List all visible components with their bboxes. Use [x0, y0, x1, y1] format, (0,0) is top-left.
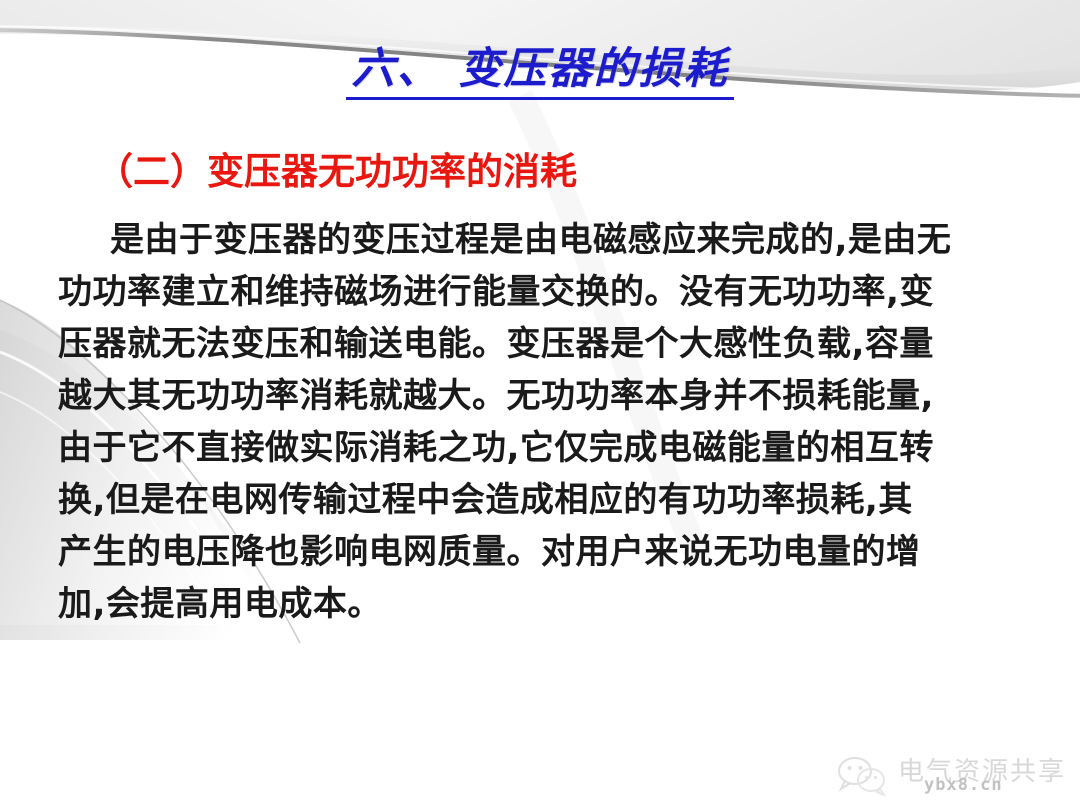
- section-subtitle-container: （二）变压器无功功率的消耗: [96, 152, 577, 193]
- page-title: 六、 变压器的损耗: [346, 46, 735, 100]
- body-line: 是由于变压器的变压过程是由电磁感应来完成的,是由无: [58, 214, 1010, 266]
- page-title-container: 六、 变压器的损耗: [0, 46, 1080, 100]
- body-line: 由于它不直接做实际消耗之功,它仅完成电磁能量的相互转: [58, 422, 1010, 474]
- body-line: 越大其无功功率消耗就越大。无功功率本身并不损耗能量,: [58, 370, 1010, 422]
- watermark: 电气资源共享 ybx8.cn: [836, 756, 1066, 796]
- watermark-site: ybx8.cn: [924, 777, 1003, 794]
- body-line: 换,但是在电网传输过程中会造成相应的有功功率损耗,其: [58, 474, 1010, 526]
- slide-canvas: 六、 变压器的损耗 （二）变压器无功功率的消耗 是由于变压器的变压过程是由电磁感…: [0, 0, 1080, 810]
- section-subtitle: （二）变压器无功功率的消耗: [96, 152, 577, 193]
- body-line: 功功率建立和维持磁场进行能量交换的。没有无功功率,变: [58, 266, 1010, 318]
- watermark-text-block: 电气资源共享 ybx8.cn: [898, 758, 1066, 794]
- body-line: 压器就无法变压和输送电能。变压器是个大感性负载,容量: [58, 318, 1010, 370]
- body-line: 产生的电压降也影响电网质量。对用户来说无功电量的增: [58, 526, 1010, 578]
- body-paragraph: 是由于变压器的变压过程是由电磁感应来完成的,是由无 功功率建立和维持磁场进行能量…: [58, 214, 1010, 630]
- body-line: 加,会提高用电成本。: [58, 578, 1010, 630]
- wechat-icon: [836, 756, 890, 796]
